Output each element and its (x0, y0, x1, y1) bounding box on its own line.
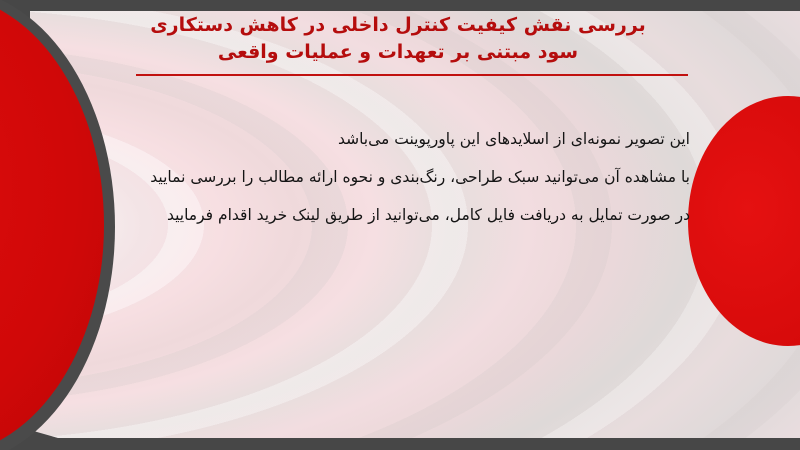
slide-body-line-3: در صورت تمایل به دریافت فایل کامل، می‌تو… (112, 196, 690, 234)
slide-title: بررسی نقش کیفیت کنترل داخلی در کاهش دستک… (100, 12, 696, 66)
slide-title-line-1: بررسی نقش کیفیت کنترل داخلی در کاهش دستک… (100, 12, 696, 39)
presentation-slide: بررسی نقش کیفیت کنترل داخلی در کاهش دستک… (0, 0, 800, 450)
title-divider-rule (136, 74, 688, 76)
slide-body-text: این تصویر نمونه‌ای از اسلایدهای این پاور… (112, 120, 690, 234)
slide-title-line-2: سود مبتنی بر تعهدات و عملیات واقعی (100, 39, 696, 66)
slide-body-line-2: با مشاهده آن می‌توانید سبک طراحی، رنگ‌بن… (112, 158, 690, 196)
slide-body-line-1: این تصویر نمونه‌ای از اسلایدهای این پاور… (112, 120, 690, 158)
